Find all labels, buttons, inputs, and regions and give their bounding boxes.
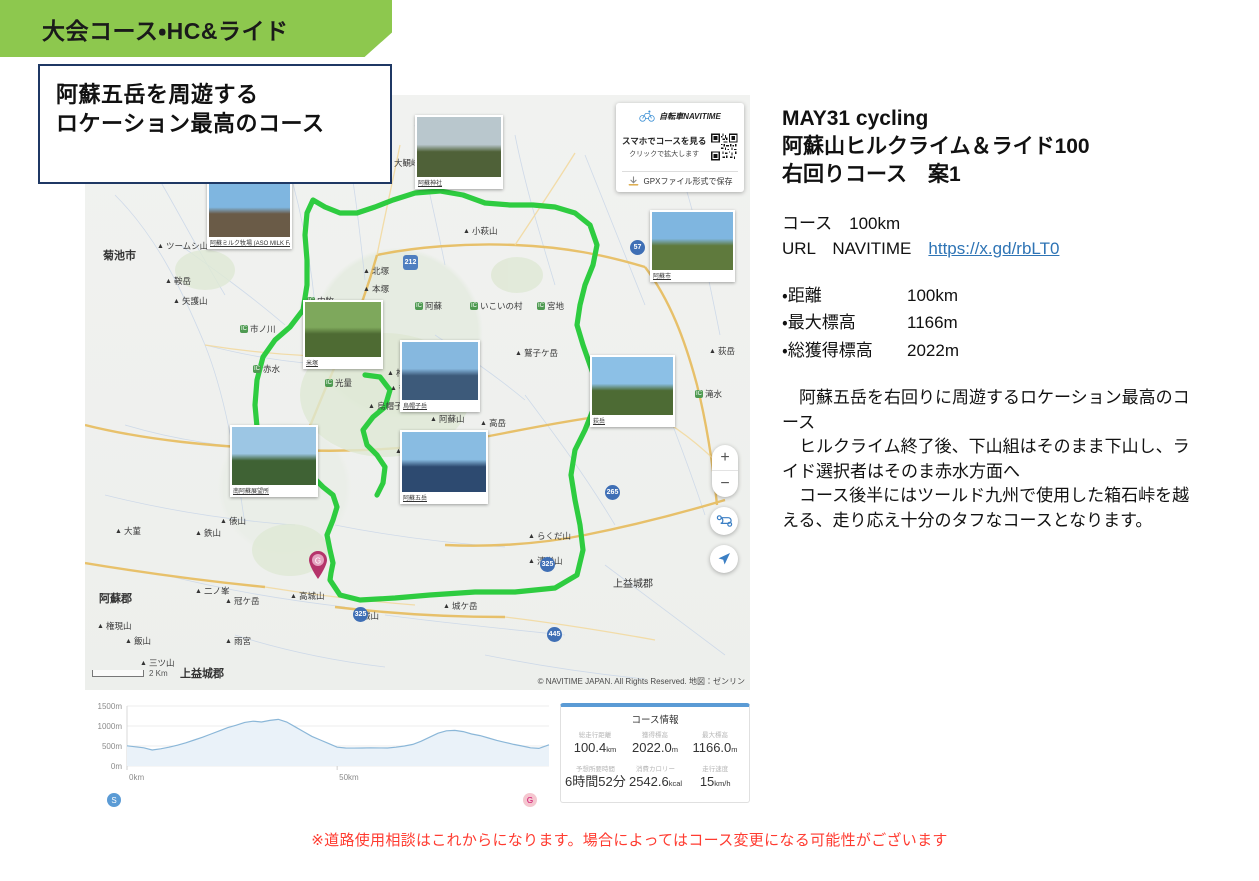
map-poi-text: 飯山 — [134, 635, 151, 647]
map-poi-text: らくだ山 — [537, 530, 571, 542]
thumbnail-image — [209, 182, 290, 237]
mountain-icon: ▲ — [480, 420, 487, 427]
mountain-icon: ▲ — [195, 530, 202, 537]
course-info-cell: 最大標高1166.0m — [685, 731, 745, 758]
course-description-paragraph: コース後半にはツールド九州で使用した箱石峠を越える、走り応え十分のタフなコースと… — [782, 484, 1202, 533]
map-poi-text: 上益城郡 — [613, 575, 653, 590]
thumbnail-caption: 阿蘇神社 — [417, 177, 501, 189]
course-distance-label: コース 100km — [782, 211, 1202, 237]
navitime-widget[interactable]: 自転車NAVITIME スマホでコースを見る クリックで拡大します — [616, 103, 744, 192]
mountain-icon: ▲ — [515, 350, 522, 357]
map-poi-text: 阿蘇山 — [439, 413, 465, 425]
course-info-cell: 獲得標高2022.0m — [625, 731, 685, 758]
panel-title-line-2: 阿蘇山ヒルクライム＆ライド100 — [782, 133, 1202, 161]
course-info-unit: kcal — [669, 779, 682, 788]
map-poi-label: ▲二ノ峯 — [195, 585, 229, 597]
mountain-icon: ▲ — [528, 558, 535, 565]
callout-box: 阿蘇五岳を周遊する ロケーション最高のコース — [38, 64, 392, 184]
course-info-value: 6時間52分 — [565, 774, 626, 790]
chart-y-tick-label: 0m — [111, 762, 122, 771]
course-info-card: コース情報 総走行距離100.4km獲得標高2022.0m最大標高1166.0m… — [560, 703, 750, 803]
map-interchange-text: 赤水 — [263, 363, 280, 375]
map-poi-label: ▲小萩山 — [463, 225, 497, 237]
map-poi-label: ▲飯山 — [125, 635, 151, 647]
map-poi-text: 俵山 — [229, 515, 246, 527]
map-poi-text: 小萩山 — [472, 225, 498, 237]
map-poi-text: 菊池市 — [103, 247, 136, 263]
thumbnail-image — [402, 432, 486, 492]
course-info-rows: 総走行距離100.4km獲得標高2022.0m最大標高1166.0m予想所要時間… — [565, 731, 745, 792]
map-poi-text: 矢護山 — [182, 295, 208, 307]
chart-x-tick-label: 0km — [129, 773, 144, 782]
course-info-value: 15km/h — [685, 774, 745, 792]
course-info-caption: 消費カロリー — [626, 765, 686, 774]
map-poi-text: 二ノ峯 — [204, 585, 230, 597]
panel-title-line-1: MAY31 cycling — [782, 105, 1202, 133]
map-poi-label: ▲城ケ岳 — [443, 600, 477, 612]
course-info-value: 2542.6kcal — [626, 774, 686, 792]
course-description-paragraph: ヒルクライム終了後、下山組はそのまま下山し、ライド選択者はそのま赤水方面へ — [782, 435, 1202, 484]
current-location-button[interactable] — [710, 545, 738, 573]
map-poi-text: 上益城郡 — [180, 665, 224, 681]
map-poi-label: ▲高岳 — [480, 417, 506, 429]
map-interchange-label: ICいこいの村 — [470, 300, 523, 312]
course-stat-item: ・最大標高1166m — [782, 309, 1202, 337]
panel-title-line-3: 右回りコース 案1 — [782, 161, 1202, 189]
mountain-icon: ▲ — [528, 533, 535, 540]
route-shield-212: 212 — [403, 255, 418, 270]
scale-bar-label: 2 Km — [149, 669, 168, 678]
route-shield-265: 265 — [605, 485, 620, 500]
navitime-subline: クリックで拡大します — [622, 149, 706, 159]
map-poi-label: 上益城郡 — [180, 665, 224, 681]
course-info-unit: km/h — [714, 779, 730, 788]
map-poi-label: ▲冠ケ岳 — [225, 595, 259, 607]
map-poi-text: 阿蘇郡 — [99, 590, 132, 606]
mountain-icon: ▲ — [165, 278, 172, 285]
route-map[interactable]: 菊池市阿蘇市阿蘇郡上益城郡上益城郡▲ツームシ山▲鞍岳▲矢護山▲小萩山▲北塚▲本塚… — [85, 95, 750, 690]
route-settings-button[interactable] — [710, 507, 738, 535]
thumbnail-image — [305, 302, 381, 357]
map-poi-label: ▲高城山 — [290, 590, 324, 602]
course-stat-key: ・総獲得標高 — [782, 337, 907, 365]
route-shield-325-b: 325 — [353, 607, 368, 622]
thumbnail-caption: 阿蘇市 — [652, 270, 733, 282]
map-poi-label: ▲ツームシ山 — [157, 240, 208, 252]
map-poi-label: ▲権現山 — [97, 620, 131, 632]
download-icon — [628, 176, 639, 187]
course-info-caption: 予想所要時間 — [565, 765, 626, 774]
mountain-icon: ▲ — [363, 268, 370, 275]
map-poi-text: 荻岳 — [718, 345, 735, 357]
map-poi-text: 本塚 — [372, 283, 389, 295]
chart-goal-marker: G — [523, 793, 537, 807]
course-info-cell: 走行速度15km/h — [685, 765, 745, 792]
mountain-icon: ▲ — [225, 638, 232, 645]
mountain-icon: ▲ — [443, 603, 450, 610]
mountain-icon: ▲ — [225, 598, 232, 605]
thumbnail-caption: 米塚 — [305, 357, 381, 369]
course-description-paragraph: 阿蘇五岳を右回りに周遊するロケーション最高のコース — [782, 386, 1202, 435]
map-interchange-label: IC宮地 — [537, 300, 564, 312]
mountain-icon: ▲ — [173, 298, 180, 305]
map-poi-text: 冠ケ岳 — [234, 595, 260, 607]
svg-text:G: G — [315, 557, 321, 566]
map-poi-label: ▲俵山 — [220, 515, 246, 527]
mountain-icon: ▲ — [463, 228, 470, 235]
course-info-cell: 総走行距離100.4km — [565, 731, 625, 758]
course-info-cell: 予想所要時間6時間52分 — [565, 765, 626, 792]
chart-y-tick-label: 500m — [102, 742, 122, 751]
thumbnail-caption: 南阿蘇展望所 — [232, 485, 316, 497]
map-interchange-label: IC阿蘇 — [415, 300, 442, 312]
navitime-headline: スマホでコースを見る — [622, 135, 706, 147]
footer-disclaimer: ※道路使用相談はこれからになります。場合によってはコース変更になる可能性がござい… — [0, 829, 1259, 850]
navigation-arrow-icon — [716, 551, 732, 567]
map-photo-thumbnail[interactable]: 荻岳 — [590, 355, 675, 427]
mountain-icon: ▲ — [140, 660, 147, 667]
map-poi-text: 高城山 — [299, 590, 325, 602]
map-poi-label: ▲荻岳 — [709, 345, 735, 357]
map-poi-label: ▲らくだ山 — [528, 530, 571, 542]
map-poi-text: ツームシ山 — [166, 240, 208, 252]
right-text-panel: MAY31 cycling 阿蘇山ヒルクライム＆ライド100 右回りコース 案1… — [782, 105, 1202, 533]
map-attribution: © NAVITIME JAPAN. All Rights Reserved. 地… — [538, 676, 745, 687]
map-poi-label: ▲阿蘇山 — [430, 413, 464, 425]
thumbnail-caption: 阿蘇ミルク牧場 (ASO MILK FACTORY) — [209, 237, 290, 249]
interchange-icon: IC — [537, 302, 545, 310]
map-photo-thumbnail[interactable]: 南阿蘇展望所 — [230, 425, 318, 497]
course-info-value: 100.4km — [565, 740, 625, 758]
map-interchange-text: いこいの村 — [480, 300, 523, 312]
map-poi-text: 高岳 — [489, 417, 506, 429]
map-poi-text: 三ツ山 — [149, 657, 175, 669]
navitime-url-link[interactable]: https://x.gd/rbLT0 — [928, 239, 1059, 258]
map-photo-thumbnail[interactable]: 阿蘇市 — [650, 210, 735, 282]
course-info-cell: 消費カロリー2542.6kcal — [626, 765, 686, 792]
map-interchange-label: IC光量 — [325, 377, 352, 389]
map-interchange-text: 阿蘇 — [425, 300, 442, 312]
map-poi-text: 城ケ岳 — [452, 600, 478, 612]
map-interchange-label: IC赤水 — [253, 363, 280, 375]
course-info-unit: m — [731, 745, 737, 754]
course-stat-value: 2022m — [907, 337, 959, 365]
chart-y-tick-label: 1000m — [98, 722, 123, 731]
map-poi-text: 権現山 — [106, 620, 132, 632]
zoom-out-button[interactable]: − — [712, 471, 738, 497]
mountain-icon: ▲ — [387, 370, 394, 377]
map-interchange-label: IC滝水 — [695, 388, 722, 400]
url-prefix-label: URL NAVITIME — [782, 239, 928, 258]
interchange-icon: IC — [695, 390, 703, 398]
map-poi-text: 鷲子ケ岳 — [524, 347, 558, 359]
thumbnail-image — [232, 427, 316, 485]
course-info-unit: km — [606, 745, 616, 754]
map-poi-text: 鉄山 — [204, 527, 221, 539]
callout-line-1: 阿蘇五岳を周遊する — [56, 80, 390, 109]
mountain-icon: ▲ — [363, 286, 370, 293]
course-info-row: 予想所要時間6時間52分消費カロリー2542.6kcal走行速度15km/h — [565, 765, 745, 792]
panel-subinfo: コース 100km URL NAVITIME https://x.gd/rbLT… — [782, 211, 1202, 262]
course-info-unit: m — [672, 745, 678, 754]
course-url-row: URL NAVITIME https://x.gd/rbLT0 — [782, 236, 1202, 262]
course-stat-list: ・距離100km・最大標高1166m・総獲得標高2022m — [782, 282, 1202, 365]
map-poi-label: ▲鉄山 — [195, 527, 221, 539]
course-stat-value: 1166m — [907, 309, 958, 337]
map-zoom-controls[interactable]: + − — [712, 445, 738, 497]
map-photo-thumbnail[interactable]: 烏帽子岳 — [400, 340, 480, 412]
mountain-icon: ▲ — [220, 518, 227, 525]
course-info-value: 1166.0m — [685, 740, 745, 758]
mountain-icon: ▲ — [125, 638, 132, 645]
chart-start-marker: S — [107, 793, 121, 807]
course-info-row: 総走行距離100.4km獲得標高2022.0m最大標高1166.0m — [565, 731, 745, 758]
mountain-icon: ▲ — [390, 385, 397, 392]
map-photo-thumbnail[interactable]: 阿蘇ミルク牧場 (ASO MILK FACTORY) — [207, 180, 292, 249]
map-poi-label: ▲北塚 — [363, 265, 389, 277]
map-poi-label: ▲三ツ山 — [140, 657, 174, 669]
map-photo-thumbnail[interactable]: 阿蘇五岳 — [400, 430, 488, 504]
goal-pin-marker[interactable]: G — [307, 550, 329, 580]
map-poi-text: 大菫 — [124, 525, 141, 537]
mountain-icon: ▲ — [430, 416, 437, 423]
banner-title: 大会コース・HC&ライド — [42, 12, 289, 46]
map-interchange-text: 滝水 — [705, 388, 722, 400]
map-poi-text: 北塚 — [372, 265, 389, 277]
map-poi-label: 菊池市 — [103, 247, 136, 263]
route-shield-325-a: 325 — [540, 557, 555, 572]
interchange-icon: IC — [240, 325, 248, 333]
map-interchange-text: 光量 — [335, 377, 352, 389]
map-poi-label: ▲本塚 — [363, 283, 389, 295]
route-shield-445: 445 — [547, 627, 562, 642]
thumbnail-caption: 阿蘇五岳 — [402, 492, 486, 504]
gpx-save-label: GPXファイル形式で保存 — [644, 176, 733, 187]
chart-y-tick-label: 1500m — [98, 702, 123, 711]
course-description: 阿蘇五岳を右回りに周遊するロケーション最高のコースヒルクライム終了後、下山組はそ… — [782, 386, 1202, 533]
course-stat-key: ・距離 — [782, 282, 907, 310]
navitime-brand: 自転車NAVITIME — [659, 111, 721, 122]
course-info-caption: 最大標高 — [685, 731, 745, 740]
interchange-icon: IC — [325, 379, 333, 387]
map-interchange-label: IC市ノ川 — [240, 323, 276, 335]
chart-x-tick-label: 50km — [339, 773, 359, 782]
course-info-caption: 獲得標高 — [625, 731, 685, 740]
map-interchange-text: 宮地 — [547, 300, 564, 312]
bicycle-icon — [639, 109, 655, 123]
mountain-icon: ▲ — [115, 528, 122, 535]
mountain-icon: ▲ — [290, 593, 297, 600]
elevation-chart-svg: 0m500m1000m1500m0km50km — [85, 700, 555, 788]
gpx-save-button[interactable]: GPXファイル形式で保存 — [622, 171, 738, 192]
mountain-icon: ▲ — [157, 243, 164, 250]
mountain-icon: ▲ — [368, 403, 375, 410]
course-info-value: 2022.0m — [625, 740, 685, 758]
thumbnail-caption: 烏帽子岳 — [402, 400, 478, 412]
slide-root: 大会コース・HC&ライド 阿蘇五岳を周遊する ロケーション最高のコース — [0, 0, 1259, 881]
callout-line-2: ロケーション最高のコース — [56, 109, 390, 138]
map-poi-label: ▲鷲子ケ岳 — [515, 347, 558, 359]
course-stat-item: ・総獲得標高2022m — [782, 337, 1202, 365]
map-poi-text: 鞍岳 — [174, 275, 191, 287]
thumbnail-caption: 荻岳 — [592, 415, 673, 427]
route-shield-57: 57 — [630, 240, 645, 255]
header-banner: 大会コース・HC&ライド — [0, 0, 392, 57]
map-photo-thumbnail[interactable]: 米塚 — [303, 300, 383, 369]
mountain-icon: ▲ — [195, 588, 202, 595]
map-poi-label: ▲大菫 — [115, 525, 141, 537]
map-scale-bar: 2 Km — [92, 669, 168, 678]
interchange-icon: IC — [415, 302, 423, 310]
thumbnail-image — [417, 117, 501, 177]
course-info-title: コース情報 — [565, 712, 745, 726]
map-photo-thumbnail[interactable]: 阿蘇神社 — [415, 115, 503, 189]
navitime-qr-row: スマホでコースを見る クリックで拡大します — [622, 128, 738, 166]
map-interchange-text: 市ノ川 — [250, 323, 276, 335]
interchange-icon: IC — [470, 302, 478, 310]
course-stat-item: ・距離100km — [782, 282, 1202, 310]
map-poi-label: ▲雨宮 — [225, 635, 251, 647]
map-poi-label: ▲鞍岳 — [165, 275, 191, 287]
thumbnail-image — [592, 357, 673, 415]
elevation-profile-chart: 0m500m1000m1500m0km50km S G — [85, 700, 555, 810]
navitime-header: 自転車NAVITIME — [622, 109, 738, 123]
thumbnail-image — [652, 212, 733, 270]
map-poi-label: 阿蘇郡 — [99, 590, 132, 606]
course-stat-key: ・最大標高 — [782, 309, 907, 337]
interchange-icon: IC — [253, 365, 261, 373]
course-stat-value: 100km — [907, 282, 958, 310]
scale-bar-line — [92, 670, 144, 677]
map-poi-label: 上益城郡 — [613, 575, 653, 590]
map-poi-label: ▲矢護山 — [173, 295, 207, 307]
course-info-caption: 走行速度 — [685, 765, 745, 774]
mountain-icon: ▲ — [97, 623, 104, 630]
course-info-caption: 総走行距離 — [565, 731, 625, 740]
route-icon — [716, 514, 733, 528]
thumbnail-image — [402, 342, 478, 400]
map-poi-text: 雨宮 — [234, 635, 251, 647]
mountain-icon: ▲ — [709, 348, 716, 355]
qr-code-icon[interactable] — [711, 128, 738, 166]
zoom-in-button[interactable]: + — [712, 445, 738, 471]
